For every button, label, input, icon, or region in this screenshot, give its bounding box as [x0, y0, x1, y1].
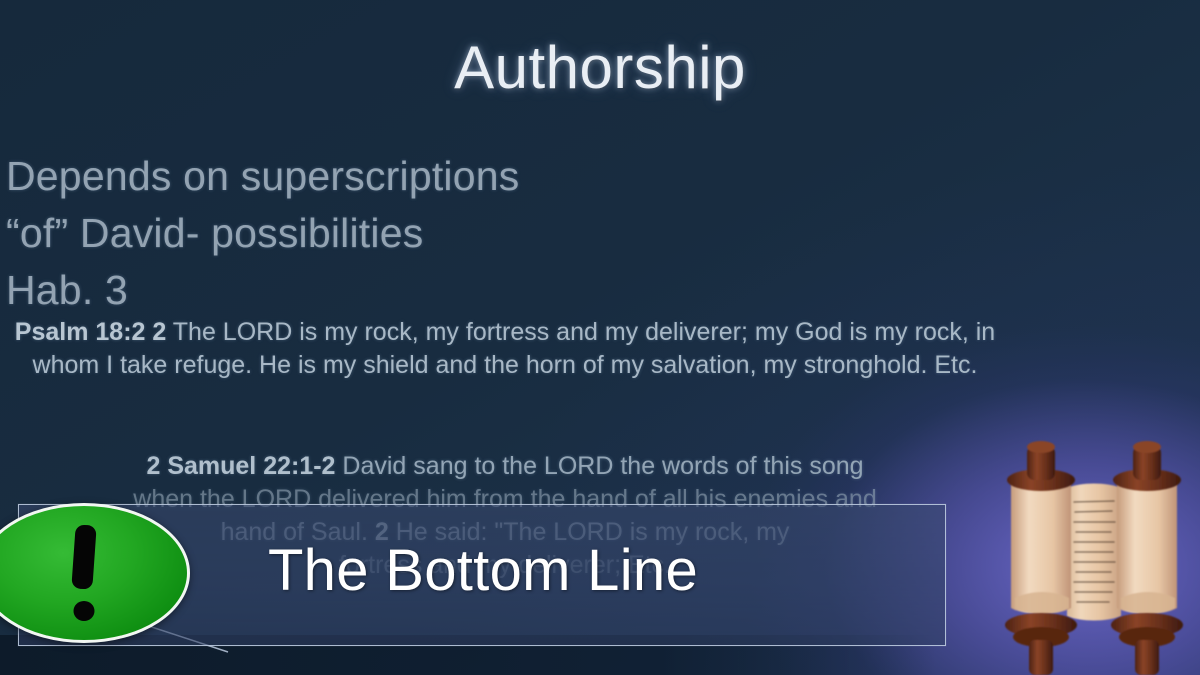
scripture-reference-psalm: Psalm 18:2: [15, 318, 146, 346]
scripture-line-psalm-3: horn of my salvation, my stronghold. Etc…: [526, 351, 978, 379]
bullet-item-1: Depends on superscriptions: [6, 148, 766, 205]
exclamation-bar: [71, 524, 96, 589]
scripture-line-psalm-1: The LORD is my rock, my fortress and my …: [173, 318, 748, 346]
exclamation-dot: [74, 601, 95, 621]
scripture-psalm-18: Psalm 18:2 2 The LORD is my rock, my for…: [0, 316, 1010, 382]
presentation-slide: Authorship Depends on superscriptions “o…: [0, 0, 1200, 675]
scripture-reference-samuel: 2 Samuel 22:1-2: [146, 452, 335, 480]
page-title: Authorship: [0, 33, 1200, 102]
scripture-line-samuel-1: David sang to the LORD the words of this…: [342, 452, 863, 480]
bullet-item-3: Hab. 3: [6, 262, 766, 319]
bullet-list: Depends on superscriptions “of” David- p…: [6, 148, 766, 319]
verse-number-psalm: 2: [152, 318, 166, 346]
torah-scroll-icon: [985, 432, 1200, 675]
bullet-item-2: “of” David- possibilities: [6, 205, 766, 262]
